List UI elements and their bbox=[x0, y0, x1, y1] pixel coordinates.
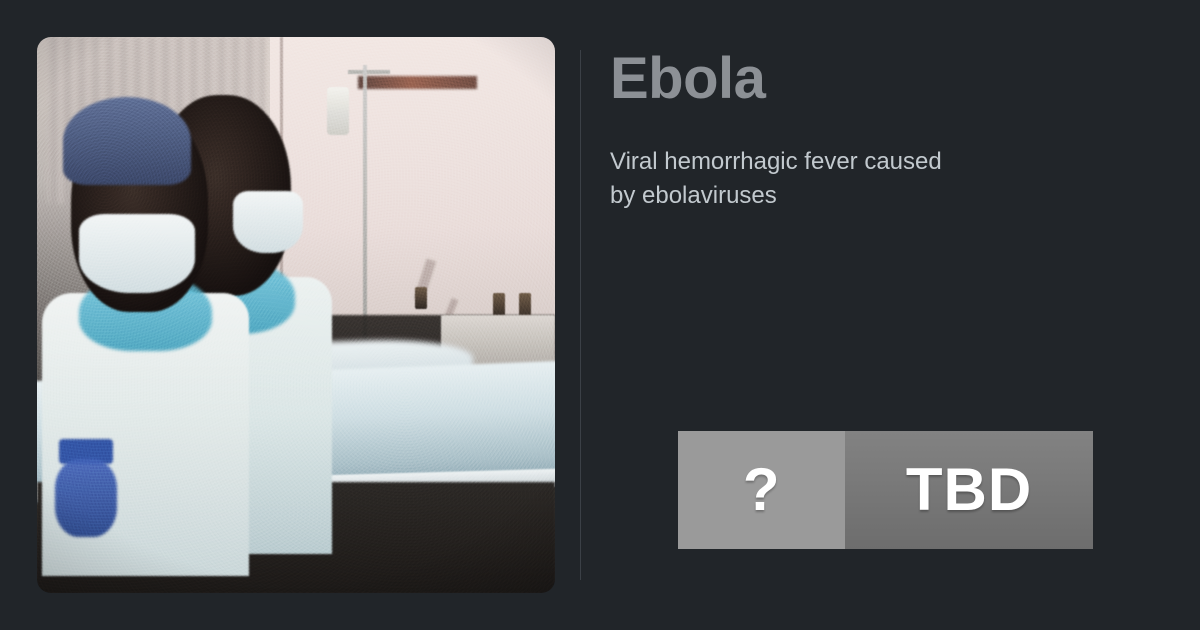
badge-label-segment: ? bbox=[678, 431, 845, 549]
nurse-foreground bbox=[42, 87, 249, 576]
question-mark-icon: ? bbox=[743, 460, 780, 520]
iv-hook bbox=[348, 70, 390, 74]
vertical-divider bbox=[580, 50, 581, 580]
surgical-cap bbox=[63, 97, 191, 185]
preview-card: Ebola Viral hemorrhagic fever caused by … bbox=[0, 0, 1200, 630]
ebola-photograph bbox=[37, 37, 555, 593]
content-column: Ebola Viral hemorrhagic fever caused by … bbox=[610, 37, 1150, 593]
medicine-bottle bbox=[415, 287, 427, 309]
face-mask bbox=[79, 214, 195, 292]
glove bbox=[55, 459, 117, 537]
page-title: Ebola bbox=[610, 50, 1150, 108]
media-panel bbox=[37, 37, 555, 593]
page-subtitle: Viral hemorrhagic fever caused by ebolav… bbox=[610, 145, 960, 213]
badge-value-text: TBD bbox=[906, 460, 1032, 520]
badge-value-segment: TBD bbox=[845, 431, 1093, 549]
wall-rust-bar bbox=[358, 76, 477, 89]
status-badge[interactable]: ? TBD bbox=[678, 431, 1093, 549]
